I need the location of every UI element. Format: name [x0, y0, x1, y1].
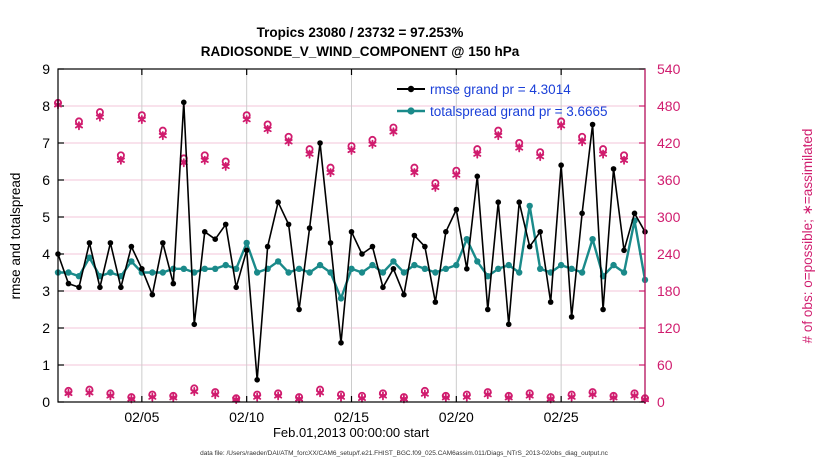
- chart-figure: Tropics 23080 / 23732 = 97.253% RADIOSON…: [0, 0, 830, 470]
- svg-text:60: 60: [657, 357, 673, 373]
- svg-text:0: 0: [42, 394, 50, 410]
- svg-text:6: 6: [42, 172, 50, 188]
- x-axis-label: Feb.01,2013 00:00:00 start: [273, 425, 430, 440]
- svg-text:5: 5: [42, 209, 50, 225]
- svg-text:240: 240: [657, 246, 681, 262]
- legend-marker-totalspread: [407, 107, 414, 114]
- svg-text:540: 540: [657, 61, 681, 77]
- svg-text:4: 4: [42, 246, 50, 262]
- svg-text:180: 180: [657, 283, 681, 299]
- chart-title-line1: Tropics 23080 / 23732 = 97.253%: [257, 25, 464, 40]
- svg-text:120: 120: [657, 320, 681, 336]
- chart-title-line2: RADIOSONDE_V_WIND_COMPONENT @ 150 hPa: [201, 44, 520, 59]
- svg-text:1: 1: [42, 357, 50, 373]
- legend-marker-rmse: [408, 86, 414, 92]
- svg-text:3: 3: [42, 283, 50, 299]
- svg-text:2: 2: [42, 320, 50, 336]
- svg-text:480: 480: [657, 98, 681, 114]
- svg-text:02/05: 02/05: [124, 409, 159, 425]
- legend-label-rmse: rmse grand pr = 4.3014: [430, 82, 571, 97]
- legend-label-totalspread: totalspread grand pr = 3.6665: [430, 104, 608, 119]
- svg-text:7: 7: [42, 135, 50, 151]
- svg-text:02/15: 02/15: [334, 409, 369, 425]
- svg-text:02/10: 02/10: [229, 409, 264, 425]
- footer-datafile: data file: /Users/raeder/DAI/ATM_forcXX/…: [200, 450, 609, 457]
- svg-text:360: 360: [657, 172, 681, 188]
- svg-text:8: 8: [42, 98, 50, 114]
- svg-text:300: 300: [657, 209, 681, 225]
- y-axis-right-label: # of obs: o=possible; ∗=assimilated: [800, 129, 815, 344]
- svg-text:0: 0: [657, 394, 665, 410]
- svg-text:02/20: 02/20: [439, 409, 474, 425]
- svg-text:02/25: 02/25: [544, 409, 579, 425]
- svg-text:9: 9: [42, 61, 50, 77]
- svg-text:420: 420: [657, 135, 681, 151]
- y-axis-left-label: rmse and totalspread: [8, 173, 23, 300]
